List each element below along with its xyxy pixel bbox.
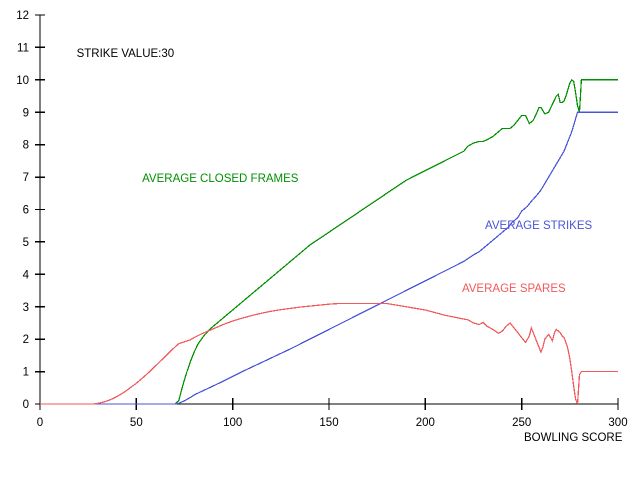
x-tick-label-0: 0 bbox=[37, 417, 43, 429]
y-tick-label-11: 11 bbox=[17, 42, 29, 54]
y-tick-label-8: 8 bbox=[23, 140, 29, 152]
y-tick-label-4: 4 bbox=[23, 269, 30, 281]
x-axis-title: BOWLING SCORE bbox=[524, 432, 623, 444]
y-tick-label-10: 10 bbox=[16, 75, 29, 87]
y-tick-label-9: 9 bbox=[23, 107, 29, 119]
y-tick-label-1: 1 bbox=[23, 367, 29, 379]
series-line-average-spares bbox=[40, 304, 618, 404]
x-tick-label-250: 250 bbox=[512, 417, 531, 429]
x-tick-label-100: 100 bbox=[223, 417, 242, 429]
y-axis: 0123456789101112 bbox=[16, 10, 45, 411]
series-line-average-strikes bbox=[40, 112, 618, 404]
annotation-average-closed-frames: AVERAGE CLOSED FRAMES bbox=[142, 173, 299, 185]
x-tick-label-300: 300 bbox=[608, 417, 627, 429]
series-lines bbox=[40, 80, 618, 404]
x-tick-label-150: 150 bbox=[319, 417, 338, 429]
y-tick-label-3: 3 bbox=[23, 302, 29, 314]
bowling-score-line-chart: 0123456789101112 050100150200250300 STRI… bbox=[0, 0, 640, 480]
x-tick-label-50: 50 bbox=[130, 417, 143, 429]
annotation-average-spares: AVERAGE SPARES bbox=[462, 283, 566, 295]
annotation-strike-value-30: STRIKE VALUE:30 bbox=[77, 48, 175, 60]
annotation-average-strikes: AVERAGE STRIKES bbox=[485, 220, 592, 232]
y-tick-label-5: 5 bbox=[23, 237, 29, 249]
y-tick-label-2: 2 bbox=[23, 334, 29, 346]
y-tick-label-0: 0 bbox=[23, 399, 29, 411]
chart-annotations: STRIKE VALUE:30AVERAGE CLOSED FRAMESAVER… bbox=[77, 48, 593, 295]
series-line-average-closed-frames bbox=[40, 80, 618, 404]
y-tick-label-7: 7 bbox=[23, 172, 29, 184]
y-tick-label-12: 12 bbox=[16, 10, 29, 22]
x-tick-label-200: 200 bbox=[416, 417, 435, 429]
chart-root: 0123456789101112 050100150200250300 STRI… bbox=[0, 0, 640, 480]
x-axis: 050100150200250300 bbox=[37, 398, 628, 429]
y-tick-label-6: 6 bbox=[23, 205, 29, 217]
